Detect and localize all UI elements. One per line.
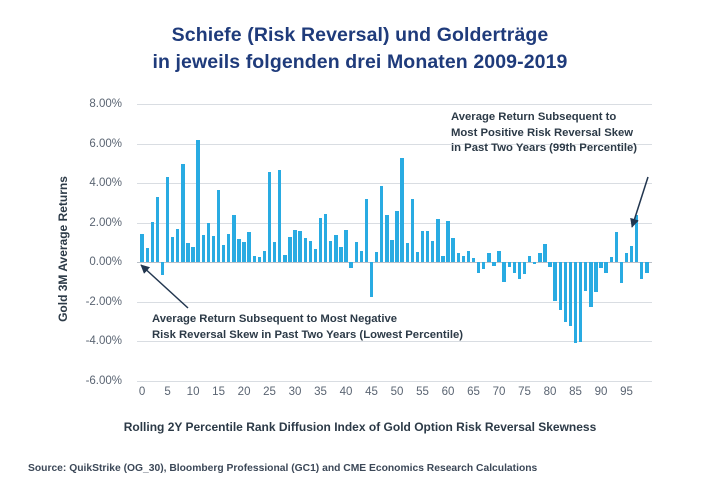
annotation-negative-line-2: Risk Reversal Skew in Past Two Years (Lo… xyxy=(152,328,463,344)
bar xyxy=(635,215,638,262)
bar xyxy=(151,222,154,263)
bar xyxy=(222,245,225,262)
bar xyxy=(395,211,398,262)
bar xyxy=(181,164,184,262)
bar xyxy=(263,251,266,262)
bar xyxy=(227,234,230,263)
x-tick-60: 60 xyxy=(442,386,455,398)
annotation-negative-skew: Average Return Subsequent to Most Negati… xyxy=(152,312,463,343)
bar xyxy=(202,235,205,263)
title-line-1: Schiefe (Risk Reversal) und Golderträge xyxy=(0,22,720,49)
bar xyxy=(273,242,276,263)
bar xyxy=(589,262,592,307)
x-tick-0: 0 xyxy=(139,386,145,398)
bar xyxy=(559,262,562,309)
bar xyxy=(431,241,434,263)
bar xyxy=(146,248,149,262)
bar xyxy=(467,251,470,262)
bar xyxy=(615,232,618,263)
y-tick--2: -2.00% xyxy=(86,296,122,308)
annotation-positive-skew: Average Return Subsequent to Most Positi… xyxy=(451,110,637,157)
bar xyxy=(441,256,444,262)
bar xyxy=(630,246,633,262)
bar xyxy=(242,242,245,263)
x-tick-20: 20 xyxy=(238,386,251,398)
bar xyxy=(513,262,516,273)
bar xyxy=(355,242,358,263)
bar xyxy=(523,262,526,274)
bar xyxy=(309,241,312,263)
bar xyxy=(497,251,500,262)
bar xyxy=(375,252,378,262)
bar xyxy=(370,262,373,297)
x-tick-80: 80 xyxy=(544,386,557,398)
bar xyxy=(212,236,215,263)
bar xyxy=(314,249,317,262)
bar xyxy=(156,197,159,262)
bar xyxy=(472,258,475,262)
bar xyxy=(451,238,454,263)
x-tick-95: 95 xyxy=(620,386,633,398)
x-tick-55: 55 xyxy=(416,386,429,398)
bar xyxy=(237,239,240,263)
annotation-positive-line-3: in Past Two Years (99th Percentile) xyxy=(451,141,637,157)
bar xyxy=(574,262,577,343)
bar xyxy=(207,223,210,263)
bar xyxy=(349,262,352,268)
bar xyxy=(528,256,531,262)
bar xyxy=(538,253,541,262)
x-tick-30: 30 xyxy=(289,386,302,398)
bar xyxy=(171,237,174,263)
bar xyxy=(390,240,393,263)
y-tick-8: 8.00% xyxy=(89,98,122,110)
x-tick-65: 65 xyxy=(467,386,480,398)
x-tick-35: 35 xyxy=(314,386,327,398)
bar xyxy=(584,262,587,291)
bar xyxy=(385,215,388,262)
bar xyxy=(253,256,256,262)
y-tick-6: 6.00% xyxy=(89,138,122,150)
y-axis-title: Gold 3M Average Returns xyxy=(56,139,70,359)
bar xyxy=(604,262,607,273)
x-tick-10: 10 xyxy=(187,386,200,398)
bar xyxy=(161,262,164,275)
bar xyxy=(288,237,291,263)
bar xyxy=(579,262,582,342)
bar xyxy=(462,256,465,262)
x-axis-title: Rolling 2Y Percentile Rank Diffusion Ind… xyxy=(0,420,720,434)
bar xyxy=(518,262,521,279)
bar xyxy=(365,199,368,262)
bar xyxy=(400,158,403,262)
bar xyxy=(166,177,169,262)
bar xyxy=(329,241,332,263)
bar xyxy=(426,231,429,263)
bar xyxy=(411,199,414,262)
bar xyxy=(416,252,419,262)
page-title: Schiefe (Risk Reversal) und Golderträge … xyxy=(0,22,720,76)
bar xyxy=(334,235,337,263)
bar xyxy=(482,262,485,269)
bar xyxy=(436,219,439,263)
bar xyxy=(278,170,281,262)
bar xyxy=(599,262,602,268)
annotation-positive-line-2: Most Positive Risk Reversal Skew xyxy=(451,126,637,142)
bar xyxy=(640,262,643,279)
bar xyxy=(324,214,327,262)
source-note: Source: QuikStrike (OG_30), Bloomberg Pr… xyxy=(28,463,537,474)
bar xyxy=(186,243,189,262)
bar xyxy=(477,262,480,273)
bar xyxy=(191,247,194,262)
x-tick-15: 15 xyxy=(212,386,225,398)
bar xyxy=(594,262,597,292)
bar xyxy=(140,234,143,263)
x-tick-45: 45 xyxy=(365,386,378,398)
bar xyxy=(620,262,623,283)
bar xyxy=(298,231,301,263)
gridline--6 xyxy=(137,381,652,382)
bar xyxy=(293,230,296,263)
bar xyxy=(232,215,235,262)
x-tick-50: 50 xyxy=(391,386,404,398)
bar xyxy=(258,257,261,262)
x-axis-tick-labels: 05101520253035404550556065707580859095 xyxy=(137,386,652,404)
x-tick-75: 75 xyxy=(518,386,531,398)
bar xyxy=(457,253,460,262)
bar xyxy=(610,257,613,262)
bar xyxy=(548,262,551,267)
bar xyxy=(569,262,572,325)
y-tick-0: 0.00% xyxy=(89,256,122,268)
bar xyxy=(268,172,271,262)
bar xyxy=(564,262,567,321)
annotation-positive-line-1: Average Return Subsequent to xyxy=(451,110,637,126)
title-line-2: in jeweils folgenden drei Monaten 2009-2… xyxy=(0,49,720,76)
bar xyxy=(380,186,383,262)
bar xyxy=(406,243,409,262)
x-tick-85: 85 xyxy=(569,386,582,398)
bar xyxy=(492,262,495,266)
bar xyxy=(319,218,322,263)
y-tick-4: 4.00% xyxy=(89,177,122,189)
bar xyxy=(247,232,250,263)
x-tick-70: 70 xyxy=(493,386,506,398)
x-tick-5: 5 xyxy=(164,386,170,398)
x-tick-90: 90 xyxy=(595,386,608,398)
bar xyxy=(176,229,179,263)
bar xyxy=(304,238,307,263)
annotation-negative-line-1: Average Return Subsequent to Most Negati… xyxy=(152,312,463,328)
bar xyxy=(502,262,505,282)
y-tick--6: -6.00% xyxy=(86,375,122,387)
bar xyxy=(508,262,511,267)
x-tick-40: 40 xyxy=(340,386,353,398)
y-tick-2: 2.00% xyxy=(89,217,122,229)
bar xyxy=(625,253,628,262)
bar xyxy=(553,262,556,301)
x-tick-25: 25 xyxy=(263,386,276,398)
bar xyxy=(421,231,424,263)
y-tick--4: -4.00% xyxy=(86,335,122,347)
bar xyxy=(217,190,220,262)
bar xyxy=(645,262,648,273)
bar xyxy=(487,253,490,262)
bar xyxy=(543,244,546,262)
bar xyxy=(196,140,199,263)
bar xyxy=(283,255,286,262)
bar xyxy=(360,251,363,262)
bar xyxy=(446,221,449,263)
bar xyxy=(533,262,536,264)
bar xyxy=(344,230,347,263)
bar xyxy=(339,247,342,262)
